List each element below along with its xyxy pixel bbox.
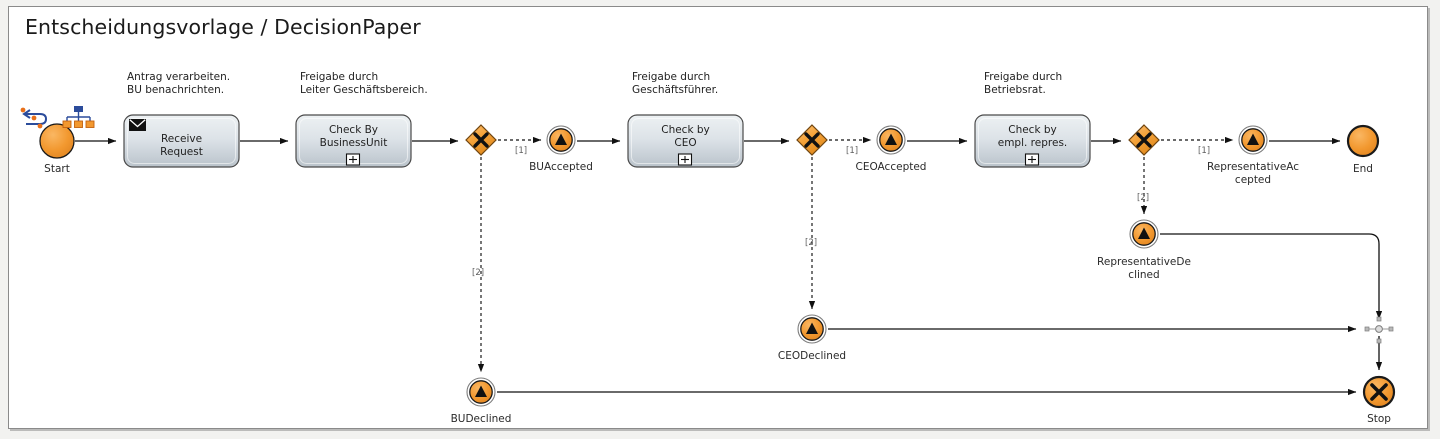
bpmn-pool[interactable]: Entscheidungsvorlage / DecisionPaper — [8, 6, 1428, 429]
event-label-representative-declined: RepresentativeDe clined — [1094, 256, 1194, 281]
diagram-stage: Entscheidungsvorlage / DecisionPaper — [0, 0, 1440, 439]
annotation-check-by-ceo: Freigabe durch Geschäftsführer. — [632, 71, 718, 97]
task-label-check-by-empl-repres: Check by empl. repres. — [975, 124, 1090, 150]
annotation-check-by-empl-repres: Freigabe durch Betriebsrat. — [984, 71, 1062, 97]
task-label-check-by-ceo: Check by CEO — [628, 124, 743, 150]
annotation-receive-request: Antrag verarbeiten. BU benachrichten. — [127, 71, 230, 97]
task-label-receive-request: Receive Request — [124, 133, 239, 159]
seq-label-representative-accepted: [1] — [1198, 146, 1210, 156]
seq-label-bu-accepted: [1] — [515, 146, 527, 156]
event-label-bu-accepted: BUAccepted — [511, 161, 611, 174]
event-label-ceo-declined: CEODeclined — [762, 350, 862, 363]
seq-label-representative-declined: [2] — [1137, 193, 1149, 203]
event-label-bu-declined: BUDeclined — [431, 413, 531, 426]
event-label-ceo-accepted: CEOAccepted — [841, 161, 941, 174]
seq-label-ceo-declined: [2] — [805, 238, 817, 248]
seq-label-ceo-accepted: [1] — [846, 146, 858, 156]
event-label-end: End — [1313, 163, 1413, 176]
page-title: Entscheidungsvorlage / DecisionPaper — [25, 15, 421, 39]
task-label-check-by-businessunit: Check By BusinessUnit — [296, 124, 411, 150]
event-label-representative-accepted: RepresentativeAc cepted — [1203, 161, 1303, 186]
annotation-check-by-businessunit: Freigabe durch Leiter Geschäftsbereich. — [300, 71, 428, 97]
seq-label-bu-declined: [2] — [472, 268, 484, 278]
event-label-stop: Stop — [1329, 413, 1429, 426]
event-label-start: Start — [7, 163, 107, 176]
